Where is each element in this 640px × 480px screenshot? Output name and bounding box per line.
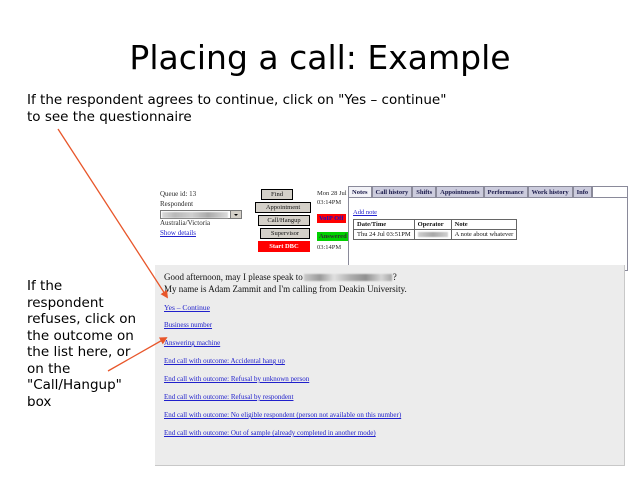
queue-id-label: Queue id: 13 (160, 190, 265, 200)
script-greeting-suffix: ? (393, 272, 397, 282)
action-button-column: Find Appointment Call/Hangup Supervisor … (255, 189, 315, 254)
outcome-yes-continue[interactable]: Yes – Continue (164, 303, 615, 312)
respondent-info-column: Queue id: 13 Respondent Australia/Victor… (160, 190, 265, 238)
appointment-button[interactable]: Appointment (255, 202, 311, 213)
outcome-answering-machine[interactable]: Answering machine (164, 339, 615, 348)
outcome-link-list: Yes – Continue Business number Answering… (164, 303, 615, 438)
outcome-accidental-hang-up[interactable]: End call with outcome: Accidental hang u… (164, 357, 615, 366)
timezone-label: Australia/Victoria (160, 219, 265, 229)
tab-info[interactable]: Info (573, 186, 593, 197)
notes-table: Date/Time Operator Note Thu 24 Jul 03:51… (353, 219, 517, 240)
tab-strip-filler (592, 186, 628, 197)
table-header-row: Date/Time Operator Note (354, 220, 517, 230)
find-button[interactable]: Find (261, 189, 293, 200)
tab-notes[interactable]: Notes (348, 186, 372, 197)
respondent-select[interactable] (160, 210, 242, 219)
outcome-refusal-by-respondent[interactable]: End call with outcome: Refusal by respon… (164, 393, 615, 402)
respondent-label: Respondent (160, 200, 265, 210)
start-dnc-button[interactable]: Start DBC (258, 241, 310, 252)
outcome-refusal-unknown-person[interactable]: End call with outcome: Refusal by unknow… (164, 375, 615, 384)
show-details-link[interactable]: Show details (160, 229, 265, 239)
callout-text-left: If the respondent refuses, click on the … (27, 278, 137, 410)
app-toolbar-region: Queue id: 13 Respondent Australia/Victor… (155, 186, 628, 264)
script-greeting-text: Good afternoon, may I please speak to (164, 272, 303, 282)
cell-datetime: Thu 24 Jul 03:51PM (354, 230, 415, 240)
script-intro-line: My name is Adam Zammit and I'm calling f… (164, 284, 615, 296)
operator-redacted (418, 232, 448, 237)
table-row[interactable]: Thu 24 Jul 03:51PM A note about whatever (354, 230, 517, 240)
tab-work-history[interactable]: Work history (528, 186, 573, 197)
chevron-down-icon[interactable] (230, 211, 241, 218)
callout-text-top: If the respondent agrees to continue, cl… (27, 92, 457, 126)
outcome-business-number[interactable]: Business number (164, 321, 615, 330)
tab-appointments[interactable]: Appointments (436, 186, 483, 197)
tab-shifts[interactable]: Shifts (412, 186, 436, 197)
voip-status-badge: VoIP Off (317, 214, 346, 223)
arrow-top (58, 129, 167, 297)
respondent-name-redacted (162, 212, 228, 218)
call-script-area: Good afternoon, may I please speak to? M… (155, 265, 625, 466)
answered-status-badge: Answered (317, 232, 349, 241)
notes-tab-body: Add note Date/Time Operator Note Thu 24 … (348, 197, 628, 271)
slide-canvas: Placing a call: Example If the responden… (0, 0, 640, 480)
call-hangup-button[interactable]: Call/Hangup (258, 215, 310, 226)
outcome-no-eligible-respondent[interactable]: End call with outcome: No eligible respo… (164, 411, 615, 420)
respondent-name-redacted-inline (304, 274, 392, 281)
tab-strip: Notes Call history Shifts Appointments P… (348, 186, 628, 197)
column-operator: Operator (414, 220, 451, 230)
outcome-out-of-sample[interactable]: End call with outcome: Out of sample (al… (164, 429, 615, 438)
add-note-link[interactable]: Add note (353, 209, 377, 216)
cell-operator (414, 230, 451, 240)
page-title: Placing a call: Example (0, 38, 640, 77)
cell-note: A note about whatever (451, 230, 517, 240)
column-note: Note (451, 220, 517, 230)
embedded-app-screenshot: Queue id: 13 Respondent Australia/Victor… (155, 186, 628, 467)
script-greeting-line: Good afternoon, may I please speak to? (164, 272, 615, 284)
column-datetime: Date/Time (354, 220, 415, 230)
supervisor-button[interactable]: Supervisor (260, 228, 310, 239)
tab-call-history[interactable]: Call history (372, 186, 413, 197)
tab-performance[interactable]: Performance (484, 186, 528, 197)
